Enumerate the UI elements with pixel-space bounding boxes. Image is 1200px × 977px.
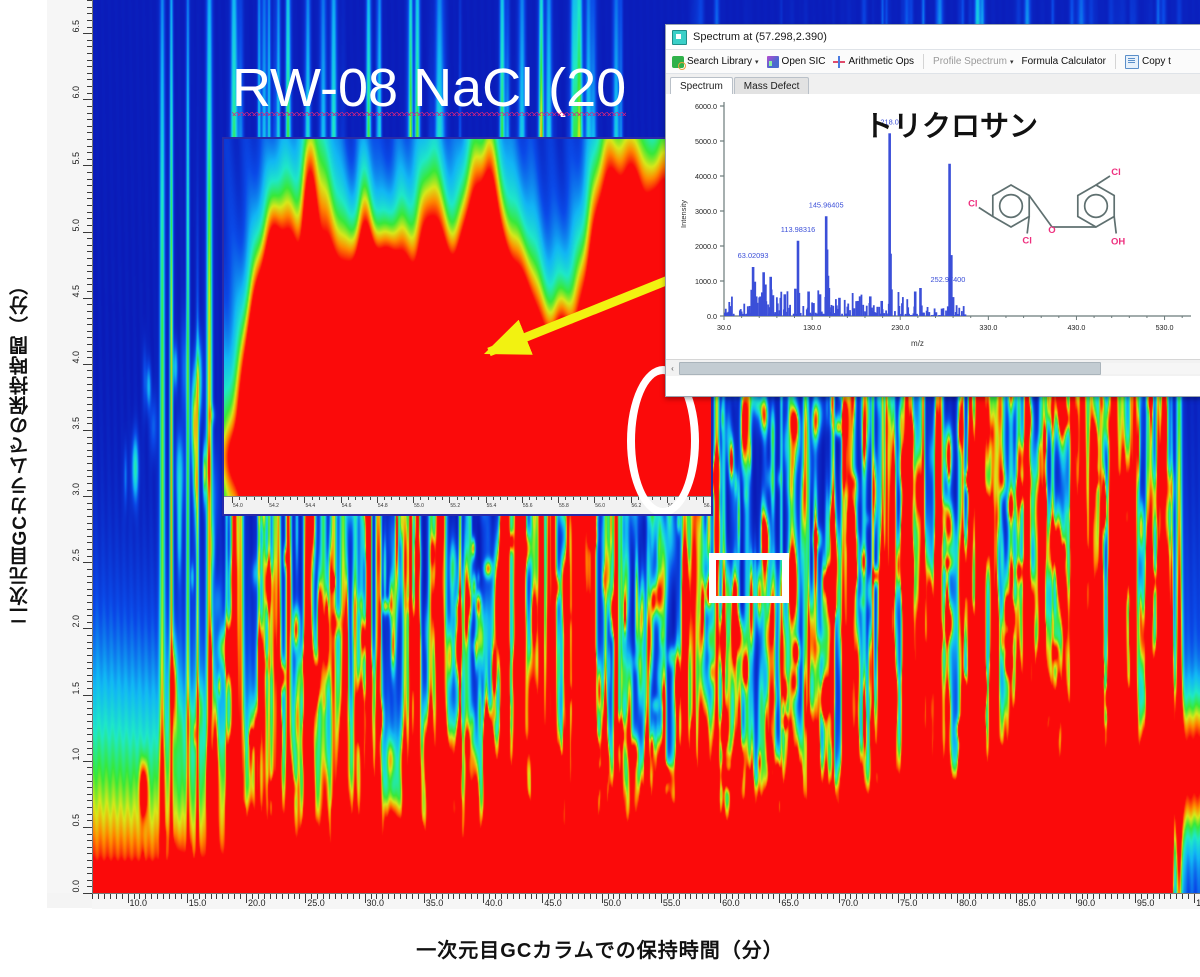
inset-x-tick-label: 55.0 [414,503,424,509]
x-axis-major-tick [839,894,840,903]
inset-x-minor-tick [493,497,494,500]
zoom-inset-x-axis: 54.054.254.454.654.855.055.255.455.655.8… [224,496,711,514]
y-axis-minor-tick [87,271,92,272]
y-axis-minor-tick [87,284,92,285]
y-axis-minor-tick [87,470,92,471]
y-axis-major-tick [83,827,92,828]
y-axis-minor-tick [87,351,92,352]
ms-bar [731,297,733,316]
inset-x-minor-tick [435,497,436,500]
inset-x-minor-tick [319,497,320,500]
ms-bar [802,306,804,316]
profile-spectrum-button[interactable]: Profile Spectrum ▾ [931,56,1015,67]
ms-bar [841,314,843,316]
ms-bar [823,314,825,316]
x-axis-minor-tick [566,894,567,899]
atom-label-cl-left-bottom: Cl [1022,236,1032,247]
x-axis-minor-tick [631,894,632,899]
x-axis-minor-tick [951,894,952,899]
y-axis-minor-tick [87,503,92,504]
y-axis-minor-tick [87,152,92,153]
arithmetic-ops-label: Arithmetic Ops [848,56,914,67]
y-axis-minor-tick [87,126,92,127]
x-axis-major-tick [602,894,603,903]
x-axis-major-tick [779,894,780,903]
inset-x-minor-tick [623,497,624,500]
x-axis-tick-label: 45.0 [544,898,562,908]
y-axis-minor-tick [87,370,92,371]
inset-x-minor-tick [457,497,458,500]
x-axis-major-tick [305,894,306,903]
ms-bar [811,302,813,316]
y-axis-minor-tick [87,265,92,266]
formula-calculator-button[interactable]: Formula Calculator [1019,56,1107,67]
y-axis-minor-tick [87,576,92,577]
x-axis-major-tick [720,894,721,903]
x-axis-minor-tick [762,894,763,899]
y-axis-minor-tick [87,708,92,709]
ms-y-tick-label: 4000.0 [695,172,717,181]
inset-x-minor-tick [602,497,603,500]
x-axis-ruler: 10.015.020.025.030.035.040.045.050.055.0… [92,893,1200,909]
x-axis-minor-tick [981,894,982,899]
tab-mass-defect[interactable]: Mass Defect [734,77,810,95]
y-axis-major-tick [83,695,92,696]
toolbar-divider [923,54,924,69]
ms-bar [726,313,728,316]
x-axis-minor-tick [685,894,686,899]
arithmetic-ops-button[interactable]: Arithmetic Ops [831,56,916,68]
ms-bar-major [764,285,767,317]
x-axis-minor-tick [1111,894,1112,899]
inset-x-minor-tick [428,497,429,500]
x-axis-minor-tick [394,894,395,899]
x-axis-minor-tick [406,894,407,899]
chevron-down-icon-profile[interactable]: ▾ [1010,58,1014,66]
ms-bar [886,314,888,316]
inset-x-tick-label: 54.0 [233,503,243,509]
x-axis-minor-tick [175,894,176,899]
y-axis-minor-tick [87,622,92,623]
x-axis-tick-label: 40.0 [485,898,503,908]
y-axis-title-text: 二次元目GCカラムでの保持時間（分） [7,275,34,626]
arithmetic-ops-icon [833,56,845,68]
ms-bar-major [807,292,810,317]
spectrum-app-icon [672,30,687,45]
x-axis-minor-tick [596,894,597,899]
x-axis-minor-tick [536,894,537,899]
ms-bar-major [819,294,822,316]
x-axis-minor-tick [329,894,330,899]
y-axis-minor-tick [87,509,92,510]
ms-y-axis-label: Intensity [679,200,688,228]
ms-bar [908,314,910,316]
y-axis-minor-tick [87,390,92,391]
x-axis-minor-tick [827,894,828,899]
y-axis-minor-tick [87,146,92,147]
x-axis-minor-tick [993,894,994,899]
compound-name-label: トリクロサン [864,103,1038,145]
ms-bar-major [952,297,955,316]
horizontal-scrollbar[interactable]: ‹ [666,359,1200,376]
x-axis-major-tick [957,894,958,903]
ms-bar [833,313,835,316]
spectrum-window[interactable]: Spectrum at (57.298,2.390) Search Librar… [665,24,1200,397]
ms-x-tick-label: 430.0 [1067,323,1085,332]
x-axis-minor-tick [1040,894,1041,899]
inset-x-minor-tick [515,497,516,500]
y-axis-minor-tick [87,437,92,438]
x-axis-minor-tick [1182,894,1183,899]
y-axis-minor-tick [87,490,92,491]
ms-x-tick-label: 230.0 [891,323,909,332]
y-axis-minor-tick [87,549,92,550]
y-axis-tick-label: 2.0 [72,615,81,628]
y-axis-minor-tick [87,840,92,841]
y-axis-minor-tick [87,106,92,107]
ms-bar [844,300,846,316]
y-axis-minor-tick [87,132,92,133]
x-axis-minor-tick [270,894,271,899]
inset-x-minor-tick [442,497,443,500]
y-axis-minor-tick [87,159,92,160]
inset-x-tick-label: 56.6 [704,503,711,509]
ms-bar [923,313,925,316]
y-axis-minor-tick [87,417,92,418]
y-axis-minor-tick [87,867,92,868]
zoom-inset-panel[interactable]: 54.054.254.454.654.855.055.255.455.655.8… [222,137,713,516]
y-axis-minor-tick [87,337,92,338]
x-axis-minor-tick [987,894,988,899]
inset-x-minor-tick [536,497,537,500]
scrollbar-thumb[interactable] [679,362,1101,375]
x-axis-minor-tick [886,894,887,899]
y-axis-tick-label: 2.5 [72,549,81,562]
x-axis-minor-tick [690,894,691,899]
x-axis-minor-tick [578,894,579,899]
ms-bar-major [794,289,797,316]
x-axis-minor-tick [1123,894,1124,899]
y-axis-major-tick [83,430,92,431]
y-axis-minor-tick [87,886,92,887]
spectrum-window-body: 0.01000.02000.03000.04000.05000.06000.0I… [666,94,1200,376]
x-axis-minor-tick [163,894,164,899]
y-axis-minor-tick [87,218,92,219]
atom-label-ether-o: O [1048,225,1055,236]
y-axis-minor-tick [87,668,92,669]
inset-x-minor-tick [507,497,508,500]
y-axis-minor-tick [87,787,92,788]
y-axis-minor-tick [87,556,92,557]
x-axis-minor-tick [471,894,472,899]
x-axis-minor-tick [453,894,454,899]
ms-bar [898,306,900,316]
y-axis-minor-tick [87,642,92,643]
x-axis-tick-label: 25.0 [307,898,325,908]
y-axis-minor-tick [87,800,92,801]
y-axis-tick-label: 4.5 [72,285,81,298]
x-axis-minor-tick [1105,894,1106,899]
y-axis-minor-tick [87,198,92,199]
x-axis-tick-label: 10.0 [130,898,148,908]
inset-x-tick-label: 55.2 [450,503,460,509]
x-axis-minor-tick [927,894,928,899]
x-axis-minor-tick [1064,894,1065,899]
x-axis-minor-tick [945,894,946,899]
x-axis-minor-tick [1188,894,1189,899]
y-axis-title: 二次元目GCカラムでの保持時間（分） [0,0,43,900]
x-axis-tick-label: 55.0 [663,898,681,908]
ms-y-tick-label: 3000.0 [695,207,717,216]
x-axis-minor-tick [211,894,212,899]
ms-bar [789,305,791,316]
y-axis-minor-tick [87,873,92,874]
x-axis-minor-tick [1117,894,1118,899]
y-axis-tick-label: 6.5 [72,20,81,33]
x-axis-minor-tick [299,894,300,899]
ms-bar [861,295,863,316]
y-axis-tick-label: 1.0 [72,748,81,761]
y-axis-minor-tick [87,185,92,186]
y-axis-minor-tick [87,847,92,848]
x-axis-minor-tick [116,894,117,899]
x-axis-tick-label: 20.0 [248,898,266,908]
x-axis-major-tick [1135,894,1136,903]
y-axis-tick-label: 4.0 [72,351,81,364]
ms-bar [741,312,743,316]
y-axis-minor-tick [87,20,92,21]
x-axis-minor-tick [465,894,466,899]
scrollbar-track[interactable] [1101,363,1200,374]
y-axis-minor-tick [87,701,92,702]
y-axis-major-tick [83,165,92,166]
ms-y-tick-label: 2000.0 [695,242,717,251]
y-axis-ruler: 0.00.51.01.52.02.53.03.54.04.55.05.56.06… [47,0,93,893]
ms-bar-major [857,301,860,316]
inset-x-minor-tick [565,497,566,500]
x-axis-minor-tick [92,894,93,899]
x-axis-tick-label: 50.0 [604,898,622,908]
spectrum-window-title: Spectrum at (57.298,2.390) [693,31,827,43]
x-axis-minor-tick [335,894,336,899]
x-axis-minor-tick [572,894,573,899]
inset-x-tick-label: 56.2 [632,503,642,509]
inset-x-minor-tick [348,497,349,500]
y-axis-major-tick [83,99,92,100]
x-axis-major-tick [898,894,899,903]
inset-x-minor-tick [391,497,392,500]
x-axis-minor-tick [288,894,289,899]
inset-x-tick-label: 55.6 [523,503,533,509]
x-axis-minor-tick [868,894,869,899]
x-axis-title-text: 一次元目GCカラムでの保持時間（分） [416,940,783,962]
atom-label-cl-left-top: Cl [968,199,978,210]
x-axis-minor-tick [459,894,460,899]
ms-bar-major [798,293,801,316]
x-axis-tick-label: 15.0 [189,898,207,908]
copy-label: Copy t [1142,56,1171,67]
spectrum-toolbar[interactable]: Search Library ▾ Open SIC Arithmetic Ops… [666,50,1200,74]
ms-bar [935,312,937,316]
y-axis-minor-tick [87,324,92,325]
x-axis-tick-label: 60.0 [722,898,740,908]
chevron-down-icon[interactable]: ▾ [755,58,759,66]
ms-bar-major [783,294,786,316]
x-axis-major-tick [128,894,129,903]
x-axis-minor-tick [892,894,893,899]
scrollbar-left-arrow-icon[interactable]: ‹ [666,360,679,376]
y-axis-minor-tick [87,192,92,193]
inset-x-minor-tick [384,497,385,500]
spectrum-window-tabs[interactable]: Spectrum Mass Defect [666,74,1200,96]
y-axis-minor-tick [87,46,92,47]
x-axis-minor-tick [1005,894,1006,899]
ms-bar [772,295,774,316]
ms-bar [845,314,847,316]
x-axis-minor-tick [347,894,348,899]
y-axis-minor-tick [87,820,92,821]
ms-bar [894,311,896,316]
y-axis-tick-label: 0.0 [72,880,81,893]
inset-x-minor-tick [355,497,356,500]
ms-bar [911,315,913,316]
x-axis-major-tick [1076,894,1077,903]
y-axis-tick-label: 5.0 [72,219,81,232]
y-axis-minor-tick [87,476,92,477]
y-axis-minor-tick [87,542,92,543]
y-axis-minor-tick [87,655,92,656]
open-sic-button[interactable]: Open SIC [765,56,828,68]
inset-x-minor-tick [500,497,501,500]
inset-x-tick-label: 54.4 [305,503,315,509]
x-axis-major-tick [542,894,543,903]
x-axis-major-tick [365,894,366,903]
x-axis-minor-tick [803,894,804,899]
x-axis-minor-tick [98,894,99,899]
y-axis-minor-tick [87,754,92,755]
ms-bar [958,308,960,316]
y-axis-minor-tick [87,741,92,742]
y-axis-minor-tick [87,113,92,114]
y-axis-minor-tick [87,225,92,226]
x-axis-minor-tick [110,894,111,899]
y-axis-minor-tick [87,582,92,583]
y-axis-minor-tick [87,714,92,715]
inset-x-minor-tick [406,497,407,500]
ms-bar [902,297,904,316]
x-axis-minor-tick [525,894,526,899]
ms-peak-label: 63.02093 [738,251,769,260]
copy-to-clipboard-button[interactable]: Copy t [1123,55,1173,69]
inset-x-minor-tick [580,497,581,500]
x-axis-minor-tick [513,894,514,899]
x-axis-minor-tick [1099,894,1100,899]
x-axis-minor-tick [756,894,757,899]
atom-label-oh: OH [1111,237,1125,248]
inset-x-minor-tick [254,497,255,500]
inset-x-minor-tick [246,497,247,500]
y-axis-minor-tick [87,536,92,537]
x-axis-minor-tick [1070,894,1071,899]
y-axis-minor-tick [87,880,92,881]
inset-x-tick-label: 54.8 [378,503,388,509]
y-axis-major-tick [83,761,92,762]
inset-x-minor-tick [326,497,327,500]
ms-bar [813,303,815,316]
x-axis-minor-tick [874,894,875,899]
y-axis-major-tick [83,893,92,894]
y-axis-minor-tick [87,483,92,484]
ms-bar [963,306,965,316]
y-axis-minor-tick [87,648,92,649]
y-axis-minor-tick [87,615,92,616]
y-axis-tick-label: 3.5 [72,417,81,430]
x-axis-minor-tick [228,894,229,899]
y-axis-minor-tick [87,774,92,775]
y-axis-minor-tick [87,834,92,835]
x-axis-minor-tick [1129,894,1130,899]
x-axis-minor-tick [1176,894,1177,899]
ms-bar-major [920,306,923,317]
x-axis-minor-tick [1046,894,1047,899]
y-axis-minor-tick [87,331,92,332]
y-axis-major-tick [83,33,92,34]
y-axis-minor-tick [87,27,92,28]
x-axis-minor-tick [104,894,105,899]
ms-bar [743,304,745,316]
x-axis-minor-tick [862,894,863,899]
y-axis-minor-tick [87,721,92,722]
y-axis-minor-tick [87,450,92,451]
y-axis-minor-tick [87,602,92,603]
y-axis-minor-tick [87,278,92,279]
search-library-button[interactable]: Search Library ▾ [670,56,761,68]
y-axis-minor-tick [87,318,92,319]
x-axis-minor-tick [649,894,650,899]
x-axis-major-tick [483,894,484,903]
y-axis-minor-tick [87,66,92,67]
x-axis-minor-tick [833,894,834,899]
x-axis-minor-tick [519,894,520,899]
y-axis-minor-tick [87,794,92,795]
inset-x-minor-tick [529,497,530,500]
y-axis-minor-tick [87,662,92,663]
ms-bar [854,308,856,316]
ms-bar [876,307,878,316]
y-axis-minor-tick [87,311,92,312]
inset-x-minor-tick [544,497,545,500]
x-axis-minor-tick [696,894,697,899]
inset-x-minor-tick [239,497,240,500]
x-axis-tick-label: 85.0 [1018,898,1036,908]
y-axis-major-tick [83,232,92,233]
ms-bars [724,133,966,316]
toolbar-divider-2 [1115,54,1116,69]
x-axis-minor-tick [282,894,283,899]
ms-bar [965,314,967,316]
open-sic-icon [767,56,779,68]
x-axis-minor-tick [234,894,235,899]
ms-bar-major [769,277,772,316]
y-axis-minor-tick [87,13,92,14]
x-axis-minor-tick [590,894,591,899]
open-sic-label: Open SIC [782,56,826,67]
inset-x-minor-tick [616,497,617,500]
y-axis-minor-tick [87,0,92,1]
inset-x-minor-tick [420,497,421,500]
ms-y-tick-label: 6000.0 [695,102,717,111]
spectrum-window-titlebar[interactable]: Spectrum at (57.298,2.390) [666,25,1200,50]
